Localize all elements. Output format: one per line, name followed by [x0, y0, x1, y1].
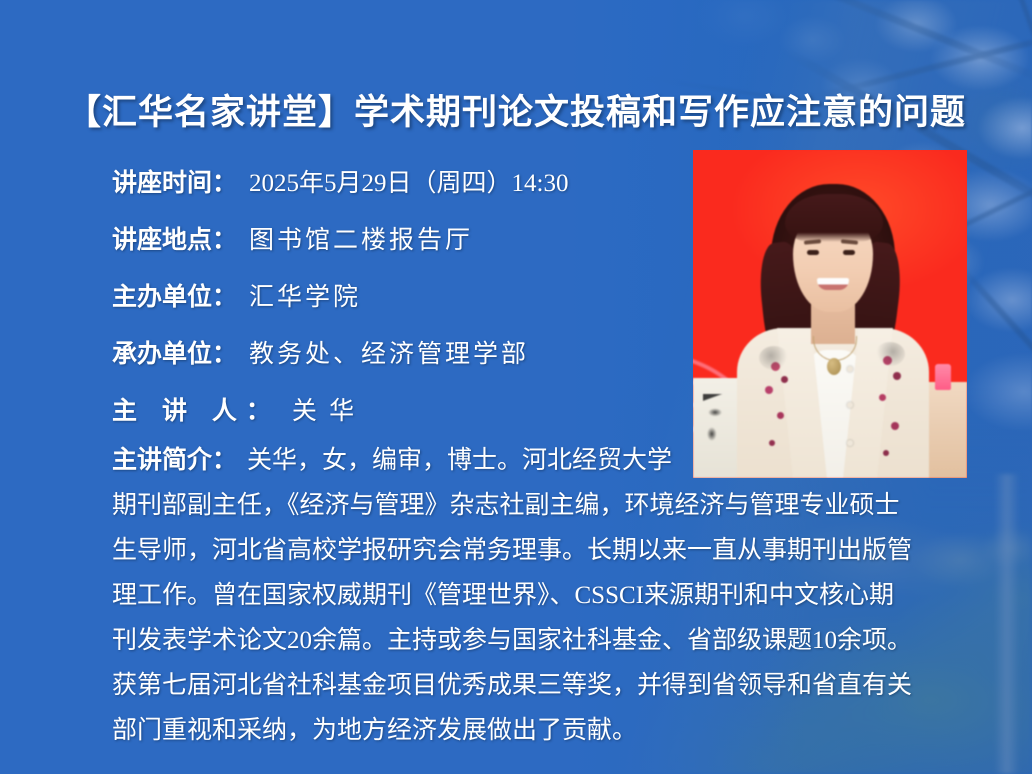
- photo-button: [847, 402, 853, 408]
- bio-text: 部门重视和采纳，为地方经济发展做出了贡献。: [112, 710, 637, 746]
- info-label-time: 讲座时间：: [112, 163, 237, 199]
- speaker-photo: [693, 150, 967, 478]
- photo-embroidery: [875, 342, 905, 366]
- bio-line: 获第七届河北省社科基金项目优秀成果三等奖，并得到省领导和省直有关: [112, 665, 982, 710]
- bio-text: 理工作。曾在国家权威期刊《管理世界》、CSSCI来源期刊和中文核心期: [112, 575, 894, 611]
- photo-pendant: [827, 358, 841, 375]
- photo-eye-left: [807, 250, 819, 255]
- photo-embroidery: [765, 386, 773, 394]
- photo-embroidery: [891, 422, 899, 430]
- photo-embroidery: [777, 412, 784, 419]
- bio-line: 生导师，河北省高校学报研究会常务理事。长期以来一直从事期刊出版管: [112, 530, 982, 575]
- photo-button: [847, 366, 853, 372]
- info-value-speaker: 关 华: [292, 391, 357, 427]
- speaker-bio-block: 主讲简介： 关华，女，编审，博士。河北经贸大学 期刊部副主任，《经济与管理》杂志…: [112, 440, 982, 755]
- lecture-poster: 【汇华名家讲堂】学术期刊论文投稿和写作应注意的问题 讲座时间： 2025年5月2…: [0, 0, 1032, 774]
- photo-embroidery: [781, 376, 788, 383]
- photo-smile: [817, 278, 849, 290]
- info-value-coorganizer: 教务处、经济管理学部: [249, 334, 529, 370]
- photo-embroidery: [759, 346, 789, 370]
- photo-embroidery: [769, 440, 775, 446]
- info-value-time: 2025年5月29日（周四）14:30: [249, 163, 568, 199]
- bio-line: 刊发表学术论文20余篇。主持或参与国家社科基金、省部级课题10余项。: [112, 620, 982, 665]
- bio-line: 期刊部副主任，《经济与管理》杂志社副主编，环境经济与管理专业硕士: [112, 485, 982, 530]
- info-label-coorganizer: 承办单位：: [112, 334, 237, 370]
- bio-text: 获第七届河北省社科基金项目优秀成果三等奖，并得到省领导和省直有关: [112, 665, 912, 701]
- photo-fringe: [785, 194, 883, 242]
- poster-title: 【汇华名家讲堂】学术期刊论文投稿和写作应注意的问题: [0, 84, 1032, 135]
- bio-line: 理工作。曾在国家权威期刊《管理世界》、CSSCI来源期刊和中文核心期: [112, 575, 982, 620]
- bio-text: 生导师，河北省高校学报研究会常务理事。长期以来一直从事期刊出版管: [112, 530, 912, 566]
- bio-line: 部门重视和采纳，为地方经济发展做出了贡献。: [112, 710, 982, 755]
- photo-button: [847, 440, 853, 446]
- photo-pink-object: [935, 364, 951, 390]
- info-label-organizer: 主办单位：: [112, 277, 237, 313]
- photo-embroidery: [883, 450, 889, 456]
- photo-eye-right: [843, 250, 855, 255]
- bio-text: 关华，女，编审，博士。河北经贸大学: [247, 440, 672, 476]
- info-label-speaker: 主 讲 人：: [112, 391, 280, 427]
- bio-text: 期刊部副主任，《经济与管理》杂志社副主编，环境经济与管理专业硕士: [112, 485, 900, 521]
- photo-embroidery: [879, 394, 886, 401]
- info-value-venue: 图书馆二楼报告厅: [249, 220, 473, 256]
- photo-embroidery: [893, 372, 901, 380]
- bio-label: 主讲简介：: [112, 440, 237, 476]
- info-label-venue: 讲座地点：: [112, 220, 237, 256]
- bio-text: 刊发表学术论文20余篇。主持或参与国家社科基金、省部级课题10余项。: [112, 620, 912, 656]
- info-value-organizer: 汇华学院: [249, 277, 361, 313]
